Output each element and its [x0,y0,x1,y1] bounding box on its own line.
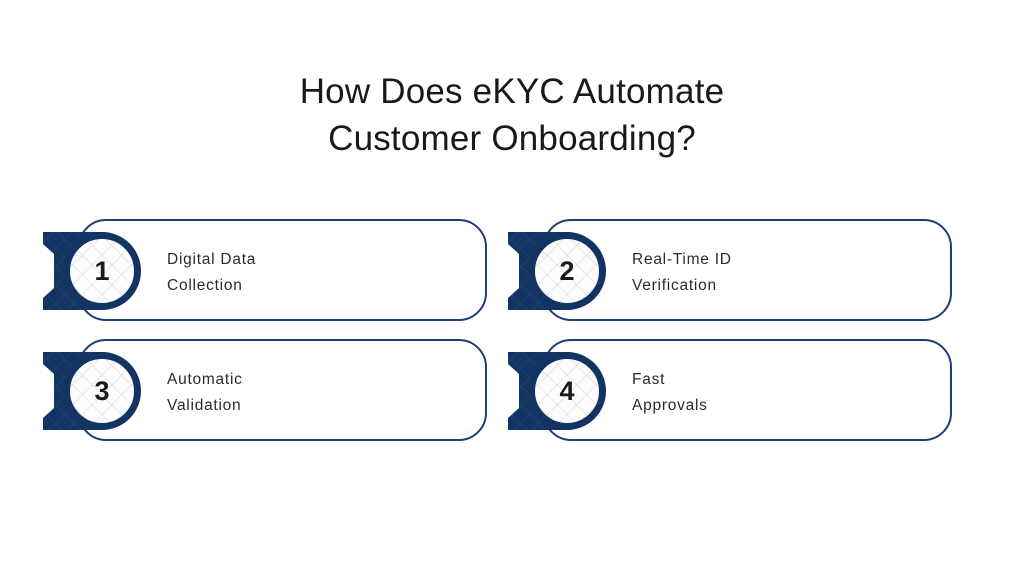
step-label-line-1: Fast [632,367,932,393]
step-number: 4 [559,378,574,405]
steps-grid: 1 Digital Data Collection 2 Real-Time ID… [0,0,1024,576]
step-label-line-2: Verification [632,273,932,299]
step-card-2: 2 Real-Time ID Verification [508,219,974,325]
step-card-3: 3 Automatic Validation [43,339,509,445]
step-number: 2 [559,258,574,285]
step-label-line-1: Real-Time ID [632,247,932,273]
step-number: 3 [94,378,109,405]
step-label-line-1: Automatic [167,367,467,393]
step-label: Fast Approvals [632,367,932,419]
step-label: Automatic Validation [167,367,467,419]
step-label-line-2: Collection [167,273,467,299]
step-card-1: 1 Digital Data Collection [43,219,509,325]
step-badge-circle: 1 [63,232,141,310]
step-badge-circle: 3 [63,352,141,430]
step-label-line-2: Approvals [632,393,932,419]
step-badge-circle: 2 [528,232,606,310]
step-label: Digital Data Collection [167,247,467,299]
step-label-line-2: Validation [167,393,467,419]
step-card-4: 4 Fast Approvals [508,339,974,445]
step-label: Real-Time ID Verification [632,247,932,299]
step-number: 1 [94,258,109,285]
step-badge-circle: 4 [528,352,606,430]
step-label-line-1: Digital Data [167,247,467,273]
